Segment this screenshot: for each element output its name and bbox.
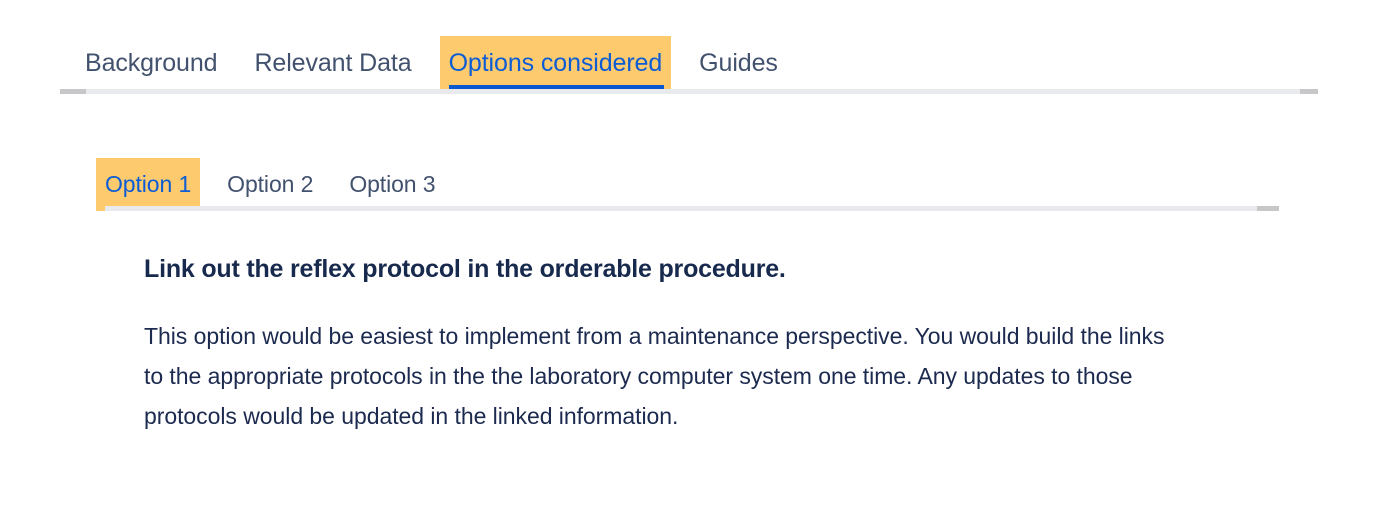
divider-segment-left [60,89,86,94]
tab-option-2[interactable]: Option 2 [218,158,322,211]
primary-tab-list: Background Relevant Data Options conside… [76,36,787,90]
divider-segment-right [1300,89,1318,94]
tab-options-considered[interactable]: Options considered [440,36,672,90]
option-panel: Link out the reflex protocol in the orde… [144,252,1189,436]
divider-segment-main [105,206,1257,211]
tab-option-1[interactable]: Option 1 [96,158,200,211]
primary-tab-divider [60,89,1318,94]
tab-background[interactable]: Background [76,36,226,90]
tab-guides[interactable]: Guides [690,36,787,90]
divider-segment-main [86,89,1300,94]
divider-segment-right [1257,206,1279,211]
tab-relevant-data[interactable]: Relevant Data [245,36,420,90]
secondary-tab-list: Option 1 Option 2 Option 3 [96,158,444,211]
secondary-tab-divider [105,206,1279,211]
tab-option-3[interactable]: Option 3 [340,158,444,211]
option-heading: Link out the reflex protocol in the orde… [144,252,1189,286]
option-description: This option would be easiest to implemen… [144,316,1184,436]
primary-tab-bar: Background Relevant Data Options conside… [0,0,1400,98]
